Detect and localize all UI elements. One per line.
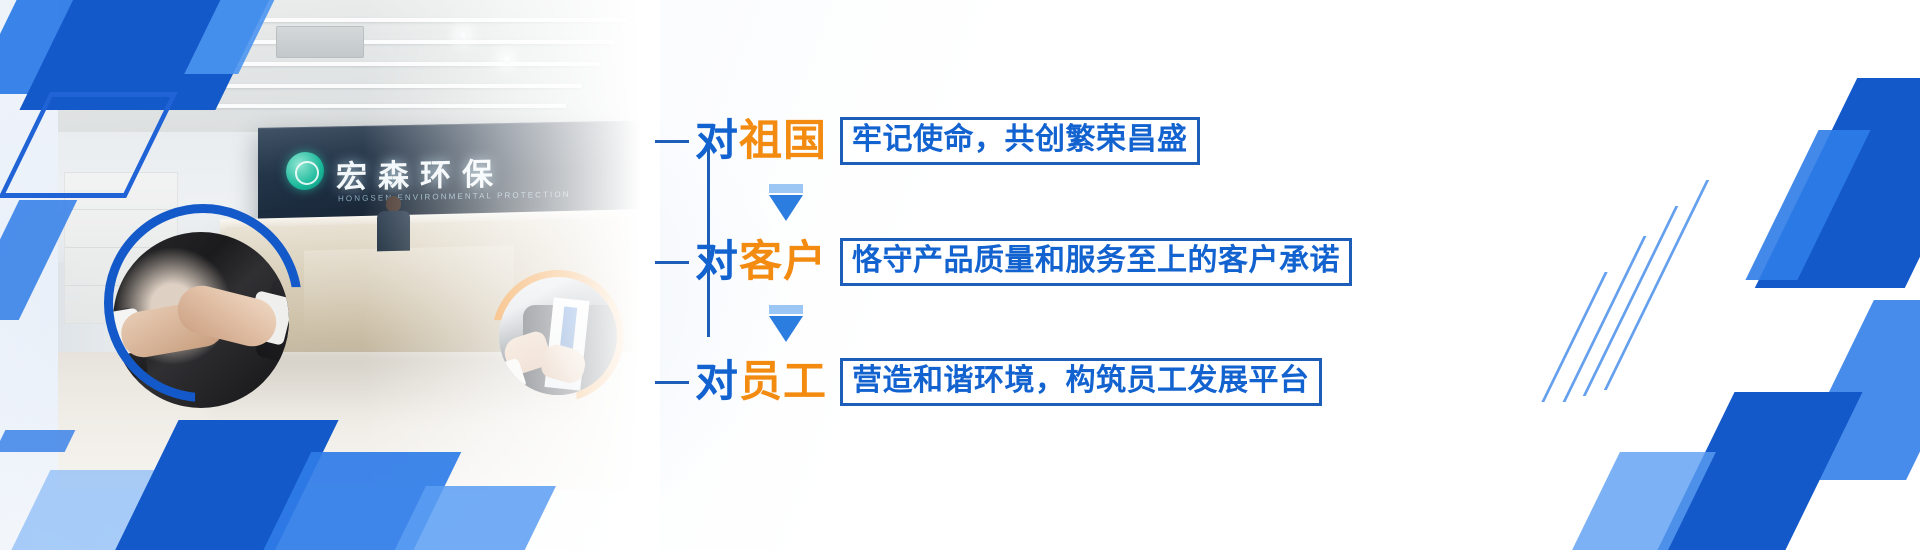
pledge-row-customer: 对客户 恪守产品质量和服务至上的客户承诺 xyxy=(655,236,1352,288)
decor-shape-left-strip xyxy=(0,430,75,452)
company-pledge-banner: 宏森环保 HONGSEN ENVIRONMENTAL PROTECTION xyxy=(0,0,1920,550)
down-arrow-bottom xyxy=(769,195,803,221)
pledge-title-subject: 员工 xyxy=(739,358,827,406)
dash-marker-icon xyxy=(655,381,689,384)
desk-panel-highlight xyxy=(304,245,514,336)
pledge-statement-employee: 营造和谐环境，构筑员工发展平台 xyxy=(840,358,1322,405)
pledge-title-customer: 对客户 xyxy=(695,241,827,284)
receptionist-figure xyxy=(376,196,410,251)
ceiling-vent xyxy=(276,26,364,58)
down-arrow-bottom xyxy=(769,316,803,342)
pledge-title-subject: 客户 xyxy=(739,238,827,286)
pledge-statement-country: 牢记使命，共创繁荣昌盛 xyxy=(840,117,1200,164)
pledge-title-prefix: 对 xyxy=(695,238,739,286)
pledge-row-country: 对祖国 牢记使命，共创繁荣昌盛 xyxy=(655,115,1200,167)
pledge-title-subject: 祖国 xyxy=(739,117,827,165)
pledge-title-prefix: 对 xyxy=(695,117,739,165)
pledge-statement-customer: 恪守产品质量和服务至上的客户承诺 xyxy=(840,238,1352,285)
pledge-row-employee: 对员工 营造和谐环境，构筑员工发展平台 xyxy=(655,356,1322,408)
dash-marker-icon xyxy=(655,261,689,264)
pledge-list: 对祖国 牢记使命，共创繁荣昌盛 对客户 恪守产品质量和服务至上的客户承诺 对员工… xyxy=(655,78,1355,398)
pledge-title-prefix: 对 xyxy=(695,358,739,406)
down-arrow-top xyxy=(769,305,803,314)
pledge-title-employee: 对员工 xyxy=(695,361,827,404)
dash-marker-icon xyxy=(655,140,689,143)
company-name-sign: 宏森环保 xyxy=(336,148,504,196)
pledge-title-country: 对祖国 xyxy=(695,120,827,163)
down-arrow-top xyxy=(769,184,803,193)
